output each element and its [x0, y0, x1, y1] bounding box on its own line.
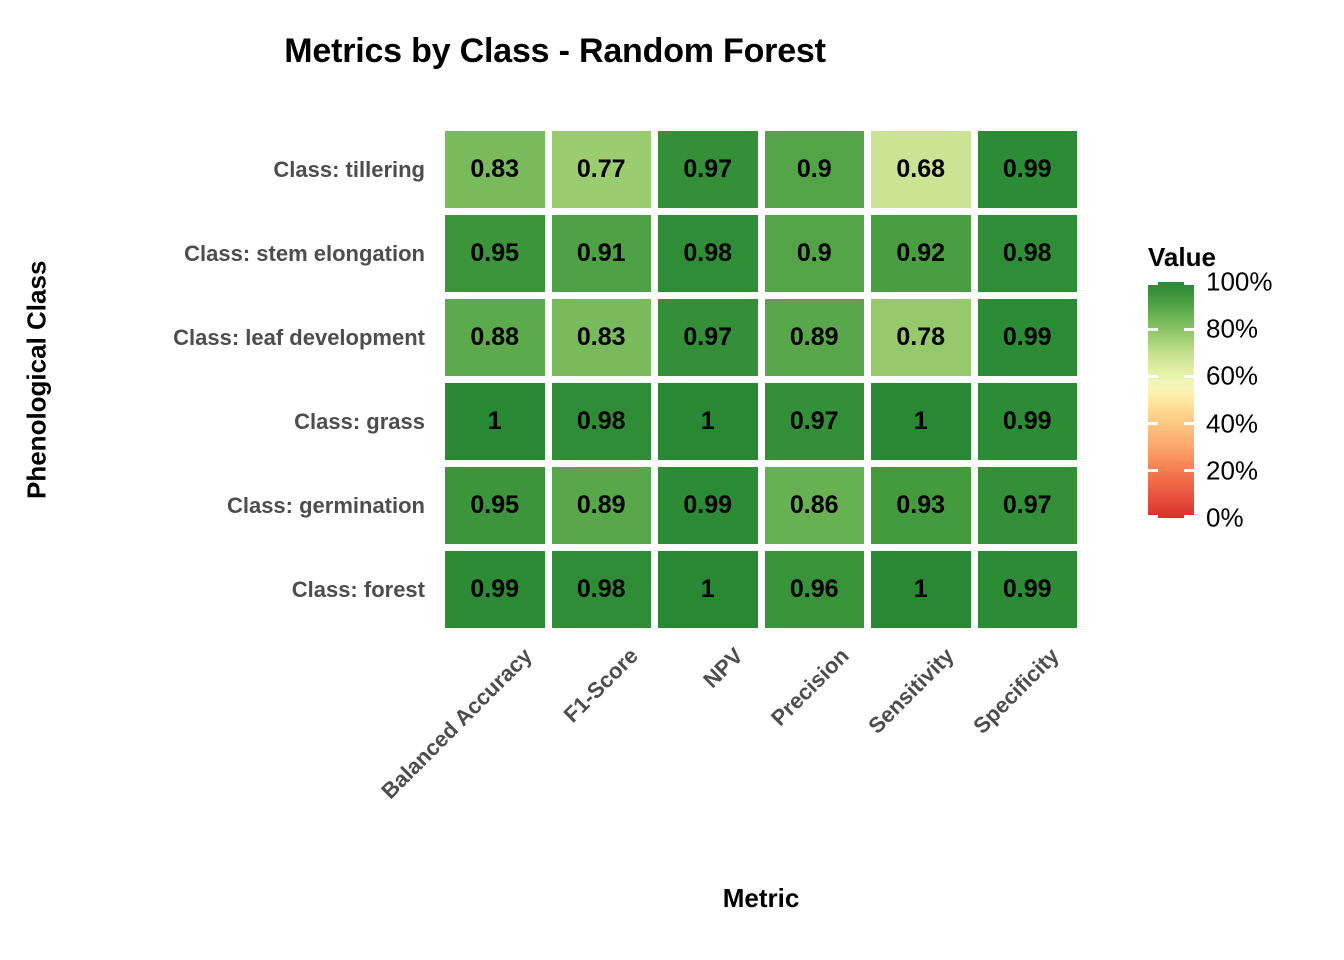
x-axis-tick-label: Balanced Accuracy — [377, 643, 538, 804]
heatmap-row: 10.9810.9710.99 — [445, 383, 1077, 460]
heatmap-cell[interactable]: 0.86 — [765, 467, 865, 544]
y-axis-tick-label: Class: germination — [57, 467, 437, 544]
legend-tick-label: 60% — [1206, 361, 1258, 392]
heatmap-cell[interactable]: 0.9 — [765, 131, 865, 208]
heatmap-cell[interactable]: 0.77 — [552, 131, 652, 208]
heatmap-row: 0.950.890.990.860.930.97 — [445, 467, 1077, 544]
legend-tick-label: 0% — [1206, 503, 1244, 534]
heatmap-row: 0.880.830.970.890.780.99 — [445, 299, 1077, 376]
heatmap-cell[interactable]: 0.99 — [658, 467, 758, 544]
y-axis-tick-label: Class: forest — [57, 551, 437, 628]
x-axis-tick-label: F1-Score — [558, 643, 643, 728]
legend-tick-mark — [1184, 328, 1194, 331]
heatmap-cell[interactable]: 0.83 — [445, 131, 545, 208]
heatmap-cell[interactable]: 1 — [658, 551, 758, 628]
legend-tick-mark — [1148, 282, 1158, 285]
heatmap-cell[interactable]: 0.88 — [445, 299, 545, 376]
heatmap-cell[interactable]: 0.83 — [552, 299, 652, 376]
heatmap-cell[interactable]: 0.98 — [552, 383, 652, 460]
heatmap-cell[interactable]: 0.91 — [552, 215, 652, 292]
heatmap-cell[interactable]: 0.97 — [658, 299, 758, 376]
heatmap-panel: 0.830.770.970.90.680.990.950.910.980.90.… — [445, 131, 1077, 635]
heatmap-cell[interactable]: 0.98 — [978, 215, 1078, 292]
heatmap-cell[interactable]: 0.89 — [765, 299, 865, 376]
heatmap-cell[interactable]: 0.9 — [765, 215, 865, 292]
legend: Value 100%80%60%40%20%0% — [1148, 244, 1316, 518]
heatmap-cell[interactable]: 1 — [445, 383, 545, 460]
legend-tick-mark — [1184, 422, 1194, 425]
y-axis-tick-label: Class: leaf development — [57, 299, 437, 376]
x-axis-tick-label: Precision — [766, 643, 854, 731]
heatmap-row: 0.990.9810.9610.99 — [445, 551, 1077, 628]
heatmap-cell[interactable]: 0.98 — [552, 551, 652, 628]
legend-tick-mark — [1184, 282, 1194, 285]
y-axis-tick-label: Class: tillering — [57, 131, 437, 208]
legend-colorbar — [1148, 282, 1194, 518]
heatmap-cell[interactable]: 0.97 — [658, 131, 758, 208]
heatmap-row: 0.830.770.970.90.680.99 — [445, 131, 1077, 208]
x-axis-tick-label: Sensitivity — [863, 643, 959, 739]
legend-tick-label: 40% — [1206, 408, 1258, 439]
legend-tick-mark — [1184, 469, 1194, 472]
heatmap-cell[interactable]: 0.97 — [765, 383, 865, 460]
heatmap-cell[interactable]: 0.95 — [445, 215, 545, 292]
legend-tick-mark — [1184, 515, 1194, 518]
legend-tick-label: 80% — [1206, 314, 1258, 345]
heatmap-cell[interactable]: 0.99 — [978, 131, 1078, 208]
legend-tick-label: 20% — [1206, 455, 1258, 486]
legend-tick-mark — [1148, 375, 1158, 378]
heatmap-cell[interactable]: 0.89 — [552, 467, 652, 544]
heatmap-cell[interactable]: 0.92 — [871, 215, 971, 292]
heatmap-cell[interactable]: 0.95 — [445, 467, 545, 544]
legend-tick-mark — [1148, 469, 1158, 472]
x-axis-tick-label: NPV — [698, 643, 748, 693]
heatmap-cell[interactable]: 0.78 — [871, 299, 971, 376]
heatmap-row: 0.950.910.980.90.920.98 — [445, 215, 1077, 292]
legend-tick-labels: 100%80%60%40%20%0% — [1206, 282, 1316, 518]
heatmap-cell[interactable]: 1 — [871, 551, 971, 628]
x-axis-tick-label: Specificity — [969, 643, 1065, 739]
page-title: Metrics by Class - Random Forest — [0, 32, 1110, 71]
x-axis-tick-labels: Balanced AccuracyF1-ScoreNPVPrecisionSen… — [445, 641, 1077, 871]
x-axis-title: Metric — [445, 883, 1077, 914]
legend-tick-label: 100% — [1206, 267, 1273, 298]
y-axis-tick-label: Class: stem elongation — [57, 215, 437, 292]
y-axis-tick-label: Class: grass — [57, 383, 437, 460]
legend-gradient — [1148, 282, 1194, 518]
heatmap-cell[interactable]: 1 — [658, 383, 758, 460]
heatmap-cell[interactable]: 0.99 — [978, 299, 1078, 376]
y-axis-tick-labels: Class: tilleringClass: stem elongationCl… — [45, 131, 437, 635]
heatmap-cell[interactable]: 0.99 — [445, 551, 545, 628]
heatmap-cell[interactable]: 0.99 — [978, 551, 1078, 628]
legend-tick-mark — [1148, 422, 1158, 425]
heatmap-cell[interactable]: 0.96 — [765, 551, 865, 628]
heatmap-cell[interactable]: 0.68 — [871, 131, 971, 208]
heatmap-cell[interactable]: 0.97 — [978, 467, 1078, 544]
heatmap-cell[interactable]: 0.93 — [871, 467, 971, 544]
legend-tick-mark — [1148, 515, 1158, 518]
legend-tick-mark — [1148, 328, 1158, 331]
heatmap-cell[interactable]: 1 — [871, 383, 971, 460]
heatmap-cell[interactable]: 0.99 — [978, 383, 1078, 460]
heatmap-cell[interactable]: 0.98 — [658, 215, 758, 292]
legend-tick-mark — [1184, 375, 1194, 378]
